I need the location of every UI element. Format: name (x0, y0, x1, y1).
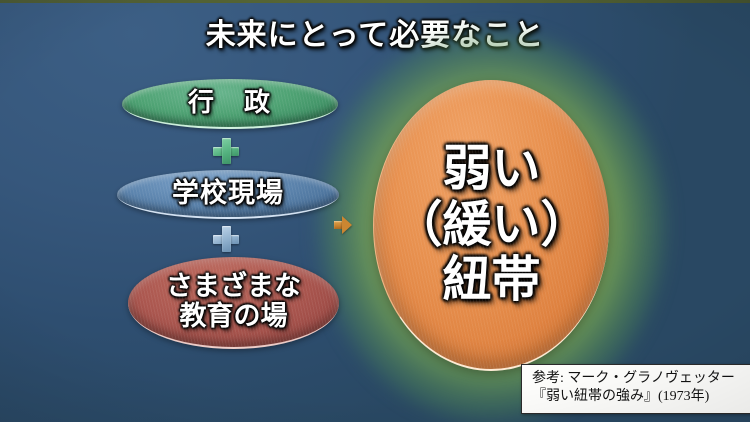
plus-icon-2-vertical (222, 226, 231, 252)
ellipse-gyousei[interactable]: 行 政 (122, 79, 338, 129)
right-arrow-icon (334, 216, 352, 234)
ellipse-gakkou-genba-label: 学校現場 (172, 180, 284, 208)
top-edge-strip (0, 0, 750, 3)
citation-box: 参考: マーク・グラノヴェッター 『弱い紐帯の強み』(1973年) (521, 364, 750, 414)
focus-ellipse-label: 弱い （緩い） 紐帯 (393, 141, 589, 309)
plus-icon-2 (213, 226, 239, 252)
ellipse-gyousei-label: 行 政 (188, 90, 272, 117)
right-arrow-head (342, 216, 352, 234)
plus-icon-1-vertical (222, 138, 231, 164)
ellipse-gakkou-genba[interactable]: 学校現場 (117, 170, 339, 219)
plus-icon-1 (213, 138, 239, 164)
focus-ellipse-weak-ties[interactable]: 弱い （緩い） 紐帯 (373, 80, 609, 371)
ellipse-kyouiku-no-ba-label: さまざまな 教育の場 (166, 272, 301, 332)
slide-canvas: 未来にとって必要なこと 弱い （緩い） 紐帯 行 政 学校現場 さまざまな 教育… (0, 0, 750, 422)
ellipse-kyouiku-no-ba[interactable]: さまざまな 教育の場 (128, 257, 339, 349)
page-title: 未来にとって必要なこと (0, 10, 750, 54)
